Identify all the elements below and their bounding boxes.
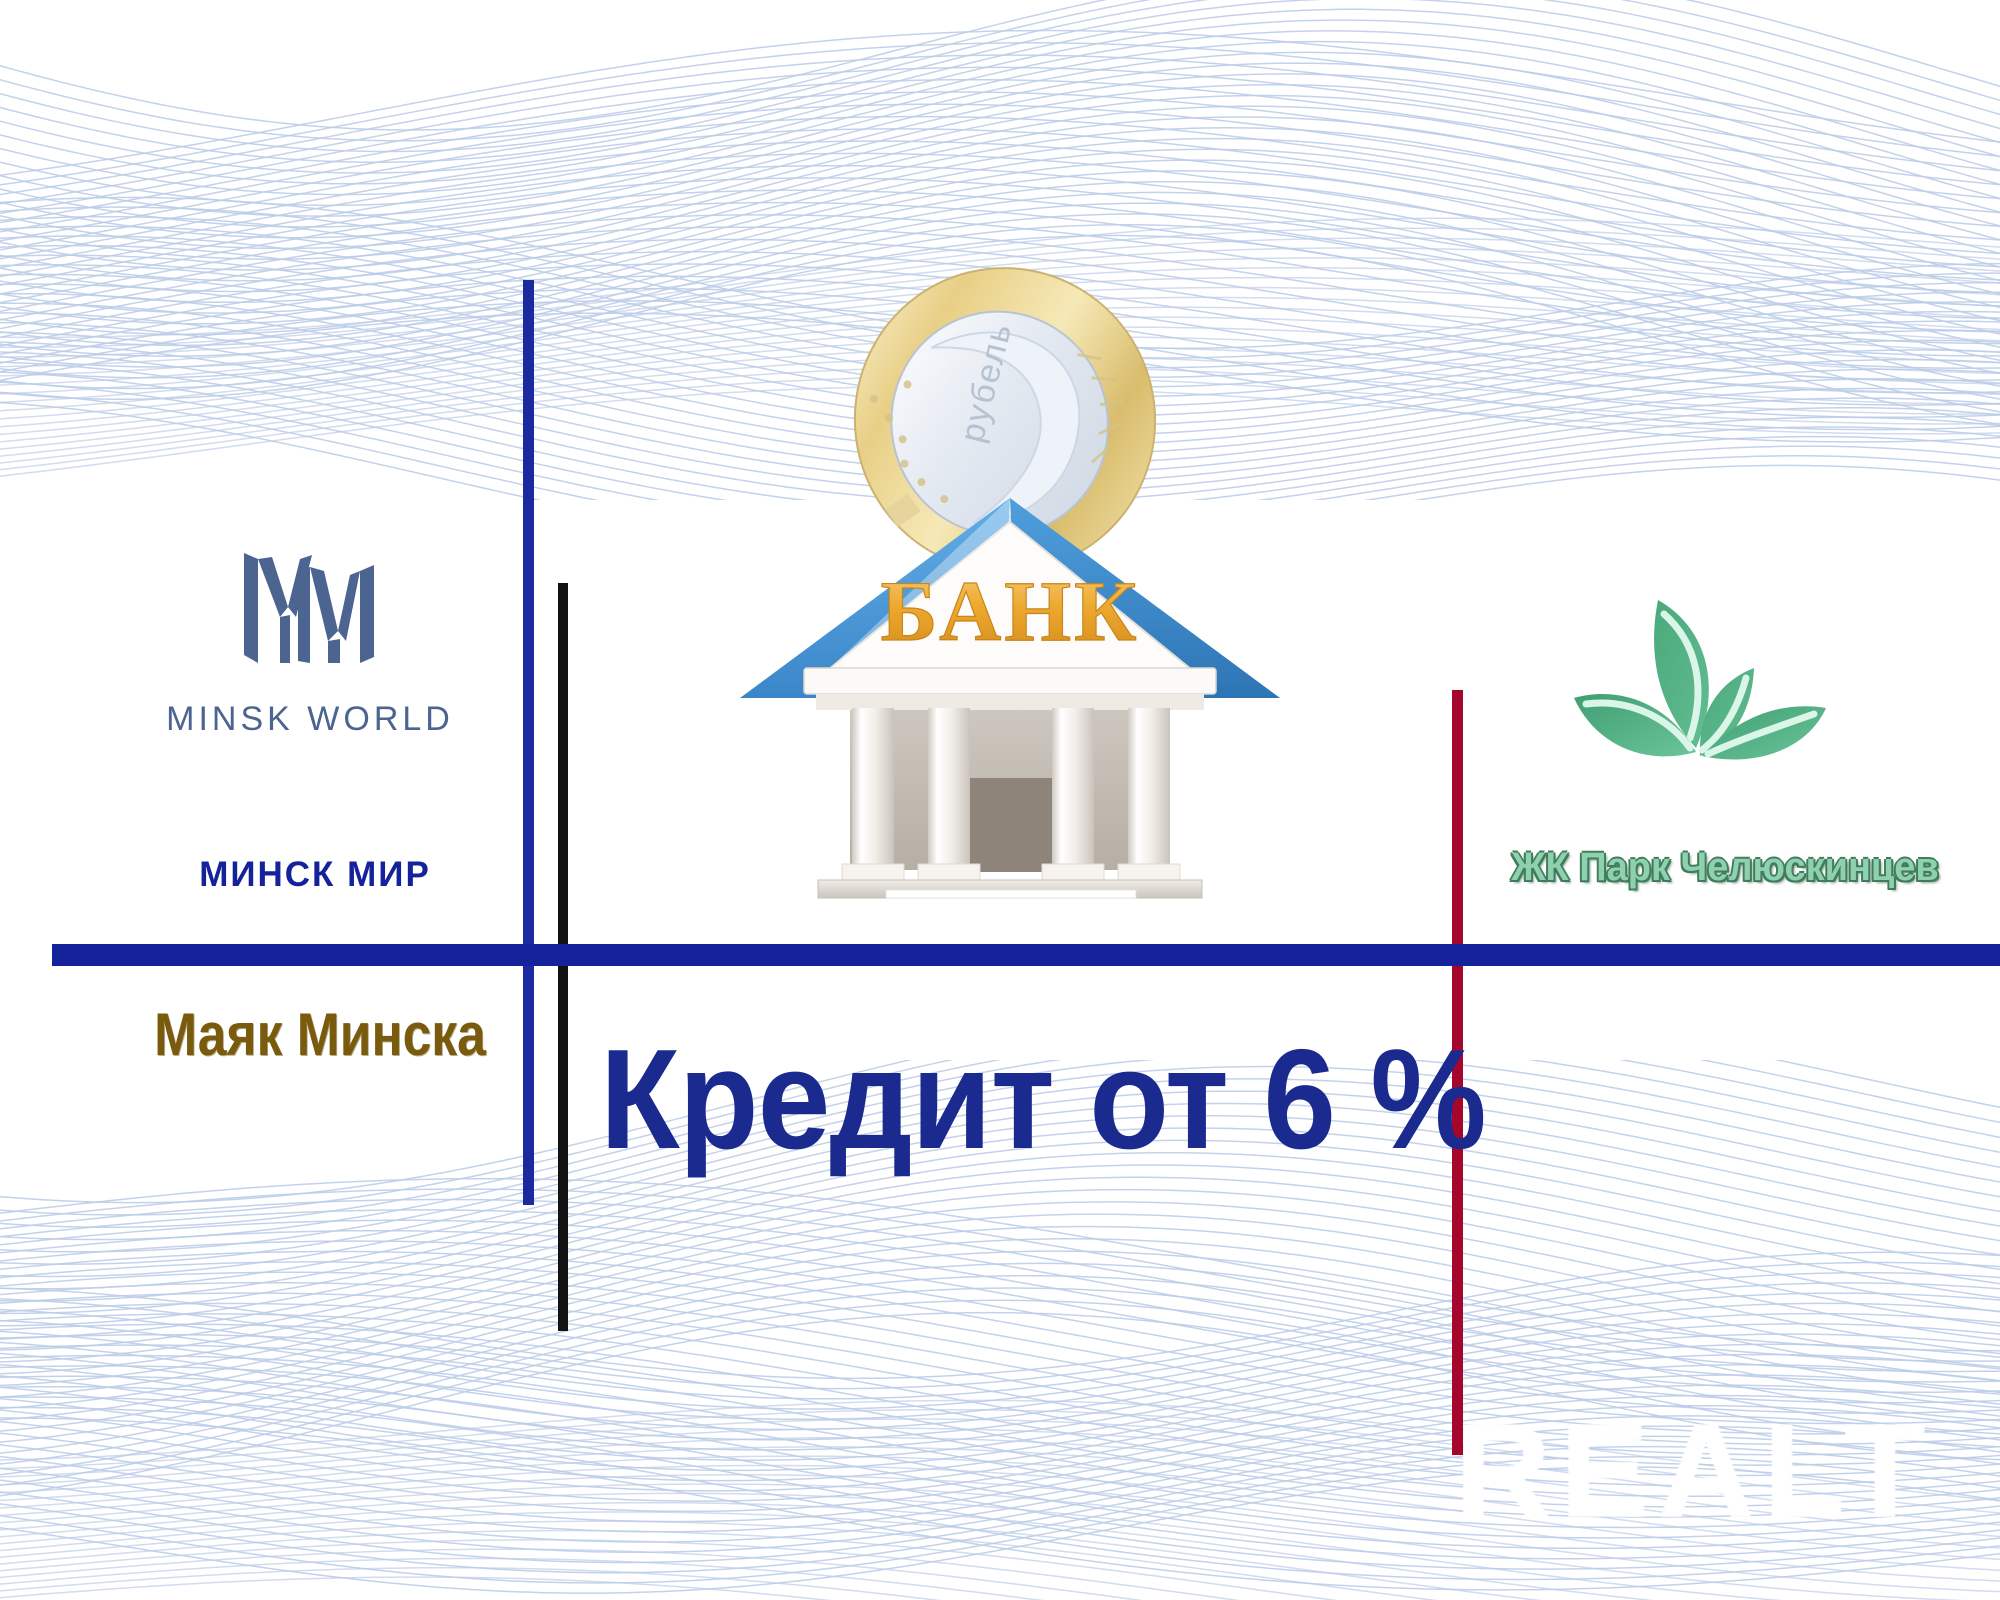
realt-watermark: REALT xyxy=(1455,1395,1935,1546)
page-title: Кредит от 6 % xyxy=(600,1025,1486,1174)
bank-sign-label: БАНК xyxy=(880,563,1139,659)
green-leaves-icon xyxy=(1540,580,1860,810)
horizontal-divider-blue xyxy=(52,944,2000,966)
mayak-minska-label: Маяк Минска xyxy=(148,1000,492,1069)
bank-doorway xyxy=(968,778,1054,872)
banner-canvas: REALT xyxy=(0,0,2000,1600)
park-chelyuskintsev-label: ЖК Парк Челюскинцев xyxy=(1502,845,1949,890)
minsk-world-wordmark: MINSK WORLD xyxy=(155,700,465,739)
vertical-divider-blue xyxy=(523,280,534,1205)
bank-building-with-coin-icon: рубель БАНК xyxy=(700,250,1320,900)
minsk-mir-label: МИНСК МИР xyxy=(150,855,480,895)
minsk-world-mw-monogram-icon xyxy=(228,545,388,670)
